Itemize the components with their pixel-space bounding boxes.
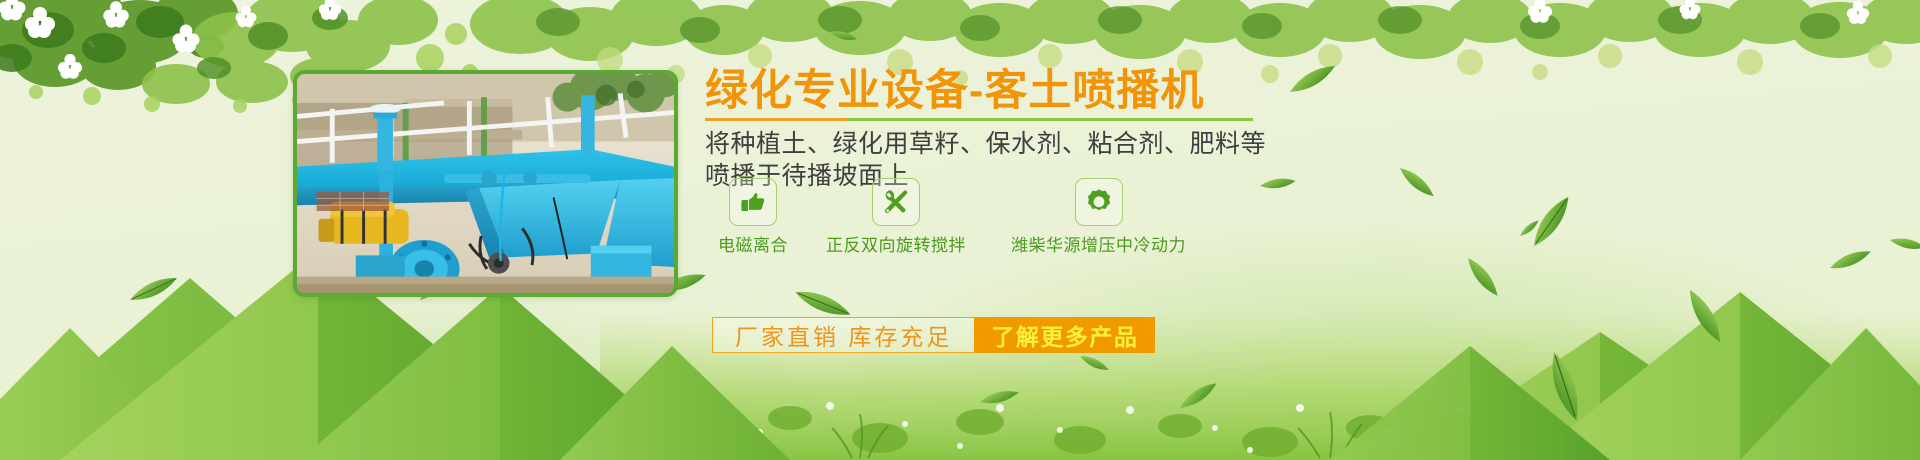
feature-label: 潍柴华源增压中冷动力 [991,231,1206,256]
feature-list: 电磁离合 正反双向旋转搅拌 潍柴华源增 [705,178,1425,263]
feature-icon-box [729,178,777,226]
page-title: 绿化专业设备-客土喷播机 [705,66,1405,116]
title-underline-rule [705,118,1253,121]
feature-item-weichai-power[interactable]: 潍柴华源增压中冷动力 [991,178,1206,256]
feature-icon-box [872,178,920,226]
learn-more-button[interactable]: 了解更多产品 [974,317,1155,353]
gear-icon [1084,187,1114,217]
feature-item-bidirectional-mixing[interactable]: 正反双向旋转搅拌 [801,178,991,256]
cta-slogan: 厂家直销 库存充足 [713,318,974,352]
promo-banner: 绿化专业设备-客土喷播机 将种植土、绿化用草籽、保水剂、粘合剂、肥料等 喷播于待… [0,0,1920,460]
subtitle-line-1: 将种植土、绿化用草籽、保水剂、粘合剂、肥料等 [705,128,1405,160]
banner-text-block: 绿化专业设备-客土喷播机 将种植土、绿化用草籽、保水剂、粘合剂、肥料等 喷播于待… [705,66,1405,192]
feature-label: 电磁离合 [705,231,801,256]
grass-texture-decoration [0,290,1920,460]
feature-label: 正反双向旋转搅拌 [801,231,991,256]
wrench-screwdriver-icon [881,187,911,217]
feature-item-electromagnetic-clutch[interactable]: 电磁离合 [705,178,801,256]
cta-bar: 厂家直销 库存充足 了解更多产品 [712,317,1155,353]
feature-icon-box [1075,178,1123,226]
product-photo-image [297,74,674,293]
product-photo[interactable] [293,70,678,297]
thumbs-up-icon [738,187,768,217]
